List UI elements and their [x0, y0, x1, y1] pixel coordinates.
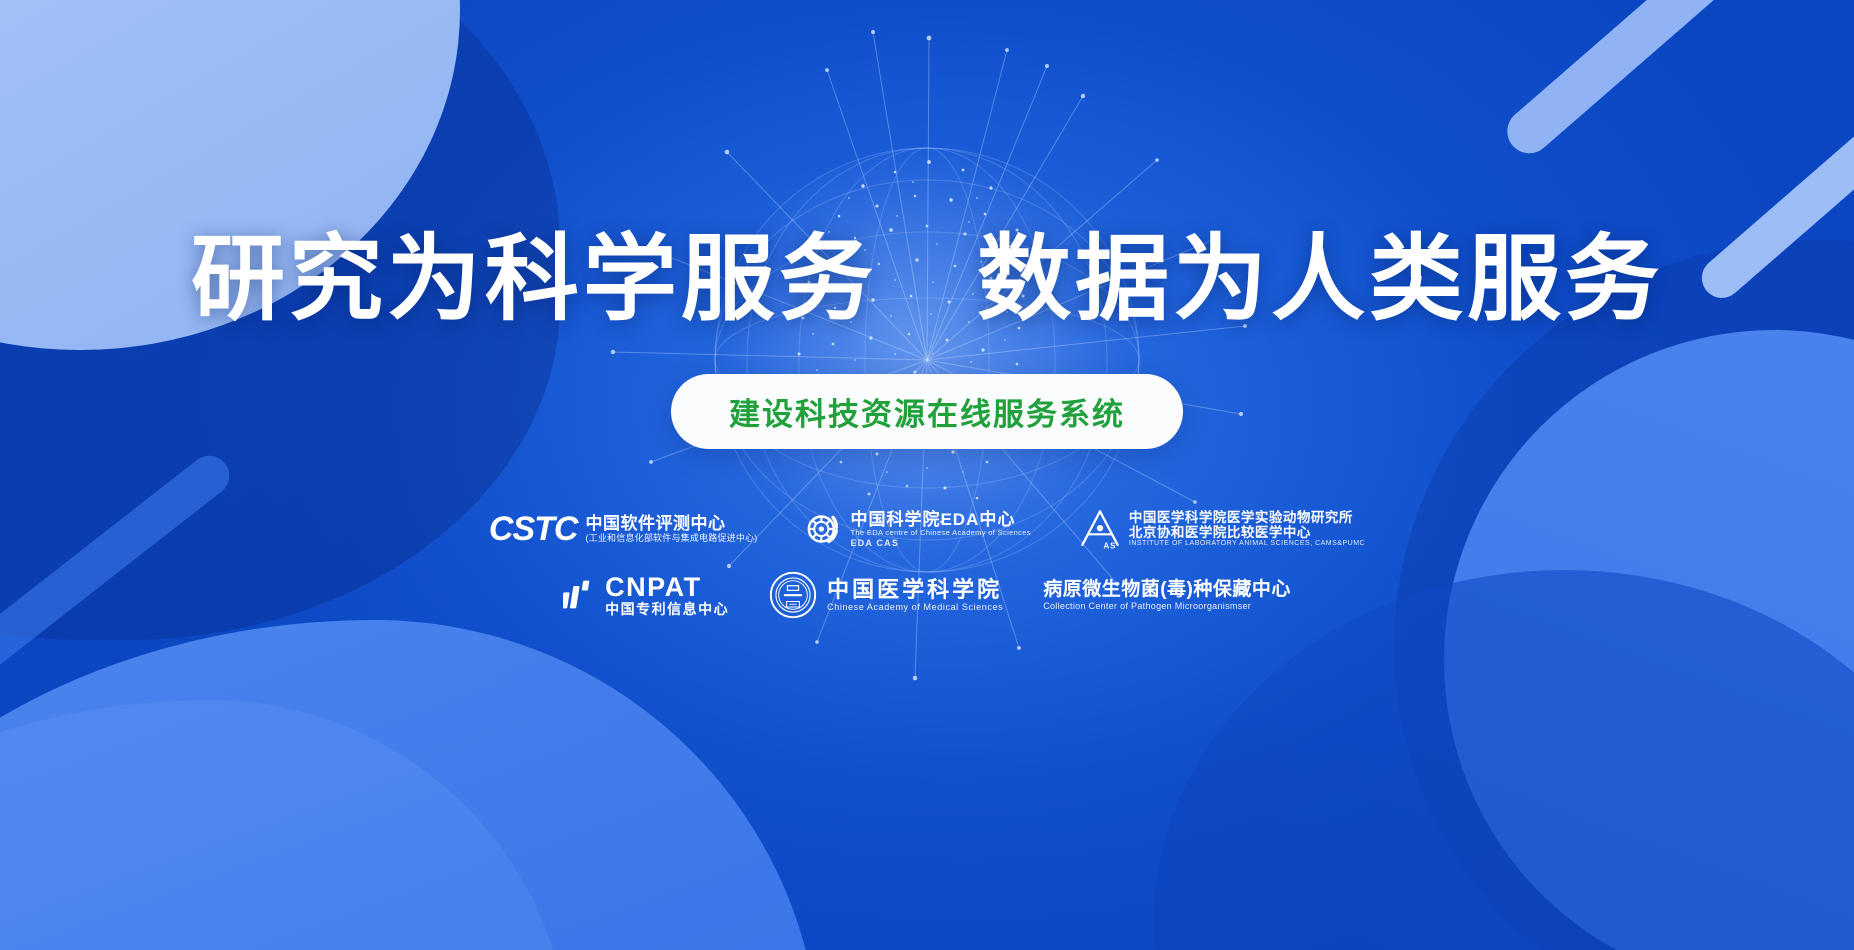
- ilas-text-block: 中国医学科学院医学实验动物研究所 北京协和医学院比较医学中心 INSTITUTE…: [1129, 510, 1365, 548]
- cstc-text-block: 中国软件评测中心 (工业和信息化部软件与集成电路促进中心): [585, 514, 757, 543]
- cstc-wordmark-text: CSTC: [489, 510, 578, 549]
- cnpat-text-block: CNPAT 中国专利信息中心: [605, 572, 729, 618]
- partner-logo-pathogen-collection[interactable]: 病原微生物菌(毒)种保藏中心 Collection Center of Path…: [1043, 579, 1291, 610]
- pathogen-collection-name-en: Collection Center of Pathogen Microorgan…: [1043, 601, 1291, 611]
- cstc-name-cn: 中国软件评测中心: [585, 514, 757, 533]
- ilas-name-cn-line2: 北京协和医学院比较医学中心: [1129, 525, 1365, 540]
- cams-name-cn: 中国医学科学院: [827, 578, 1003, 603]
- cams-seal-icon: [769, 571, 817, 619]
- ilas-name-cn-line1: 中国医学科学院医学实验动物研究所: [1129, 510, 1365, 525]
- system-cta-pill[interactable]: 建设科技资源在线服务系统: [671, 374, 1183, 449]
- partner-logos: CSTC 中国软件评测中心 (工业和信息化部软件与集成电路促进中心): [489, 507, 1365, 619]
- partner-logo-cnpat[interactable]: CNPAT 中国专利信息中心: [563, 572, 729, 618]
- pathogen-collection-text-block: 病原微生物菌(毒)种保藏中心 Collection Center of Path…: [1043, 579, 1291, 610]
- hero-banner: 研究为科学服务 数据为人类服务 建设科技资源在线服务系统 CSTC 中国软件评测…: [0, 0, 1854, 950]
- eda-cas-name-en: The EDA centre of Chinese Academy of Sci…: [850, 529, 1030, 537]
- eda-cas-gear-icon: [803, 509, 843, 549]
- svg-text:AS: AS: [1103, 541, 1116, 550]
- cstc-wordmark-icon: CSTC: [489, 510, 578, 549]
- partner-logo-row-2: CNPAT 中国专利信息中心: [563, 571, 1291, 619]
- partner-logo-row-1: CSTC 中国软件评测中心 (工业和信息化部软件与集成电路促进中心): [489, 507, 1365, 551]
- partner-logo-eda-cas[interactable]: 中国科学院EDA中心 The EDA centre of Chinese Aca…: [803, 509, 1030, 549]
- system-cta-label: 建设科技资源在线服务系统: [729, 389, 1125, 434]
- ilas-triangle-icon: AS: [1077, 507, 1123, 551]
- hero-content: 研究为科学服务 数据为人类服务 建设科技资源在线服务系统 CSTC 中国软件评测…: [0, 0, 1854, 950]
- partner-logo-cstc[interactable]: CSTC 中国软件评测中心 (工业和信息化部软件与集成电路促进中心): [489, 510, 758, 549]
- cnpat-wordmark-text: CNPAT: [605, 572, 729, 602]
- pathogen-collection-name-cn: 病原微生物菌(毒)种保藏中心: [1043, 579, 1291, 600]
- cstc-name-cn-sub: (工业和信息化部软件与集成电路促进中心): [585, 533, 757, 543]
- cnpat-name-cn: 中国专利信息中心: [605, 602, 729, 618]
- partner-logo-ilas[interactable]: AS 中国医学科学院医学实验动物研究所 北京协和医学院比较医学中心 INSTIT…: [1077, 507, 1365, 551]
- ilas-name-en: INSTITUTE OF LABORATORY ANIMAL SCIENCES,…: [1129, 540, 1365, 548]
- headline-left-text: 研究为科学服务: [191, 226, 877, 331]
- cams-text-block: 中国医学科学院 Chinese Academy of Medical Scien…: [827, 578, 1003, 613]
- page-title: 研究为科学服务 数据为人类服务: [191, 232, 1663, 326]
- headline-right-text: 数据为人类服务: [977, 226, 1663, 331]
- cnpat-bars-icon: [563, 578, 597, 612]
- cams-name-en: Chinese Academy of Medical Sciences: [827, 602, 1003, 612]
- eda-cas-name-cn: 中国科学院EDA中心: [850, 510, 1030, 529]
- eda-cas-abbr: EDA CAS: [850, 538, 1030, 548]
- eda-cas-text-block: 中国科学院EDA中心 The EDA centre of Chinese Aca…: [850, 510, 1030, 548]
- partner-logo-cams[interactable]: 中国医学科学院 Chinese Academy of Medical Scien…: [769, 571, 1003, 619]
